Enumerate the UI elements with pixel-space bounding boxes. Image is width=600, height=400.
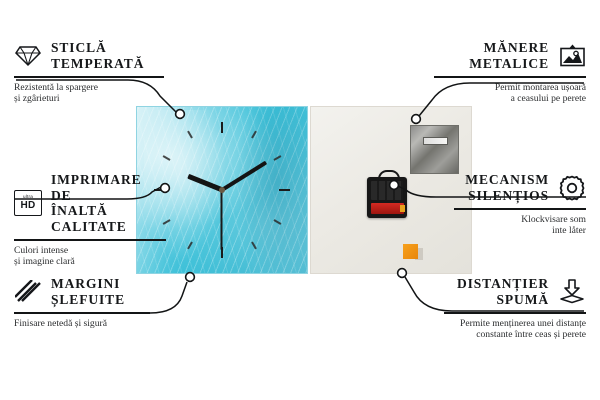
callout-description: Permite menținerea unei distanțe constan… bbox=[444, 318, 586, 341]
ultra-hd-badge-icon: ultra HD bbox=[14, 190, 42, 216]
mechanism-body bbox=[371, 181, 403, 200]
callout-header: DISTANȚIER SPUMĂ bbox=[444, 276, 586, 307]
callout-header: MECANISM SILENȚIOS bbox=[454, 172, 586, 203]
callout-foam-spacer: DISTANȚIER SPUMĂ Permite menținerea unei… bbox=[444, 276, 586, 341]
callout-title: DISTANȚIER SPUMĂ bbox=[457, 276, 549, 307]
callout-title: STICLĂ TEMPERATĂ bbox=[51, 40, 144, 71]
tick-8 bbox=[163, 189, 223, 225]
metal-hanger bbox=[410, 125, 459, 174]
callout-description: Culori intense și imagine clară bbox=[14, 245, 166, 268]
picture-frame-icon bbox=[558, 43, 586, 69]
clock-hub bbox=[219, 187, 225, 193]
hd-badge: ultra HD bbox=[14, 190, 42, 216]
foam-spacer-icon bbox=[558, 279, 586, 305]
callout-rule bbox=[14, 312, 150, 314]
callout-title: IMPRIMARE DE ÎNALTĂ CALITATE bbox=[51, 172, 166, 234]
callout-description: Klockvisare som inte låter bbox=[454, 214, 586, 237]
tick-3 bbox=[222, 189, 290, 191]
hd-badge-main: HD bbox=[20, 201, 35, 211]
polished-edges-icon bbox=[14, 279, 42, 305]
hanger-slot bbox=[423, 137, 448, 145]
callout-rule bbox=[434, 76, 586, 78]
callout-header: MĂNERE METALICE bbox=[434, 40, 586, 71]
clock-mechanism bbox=[367, 177, 407, 218]
product-image bbox=[136, 106, 472, 274]
callout-description: Rezistentă la spargere și zgârieturi bbox=[14, 82, 164, 105]
callout-tempered-glass: STICLĂ TEMPERATĂ Rezistentă la spargere … bbox=[14, 40, 164, 105]
callout-silent-mechanism: MECANISM SILENȚIOS Klockvisare som inte … bbox=[454, 172, 586, 237]
callout-rule bbox=[14, 76, 164, 78]
foam-spacer bbox=[403, 244, 418, 259]
callout-description: Permit montarea ușoară a ceasului pe per… bbox=[434, 82, 586, 105]
callout-metal-handles: MĂNERE METALICE Permit montarea ușoară a… bbox=[434, 40, 586, 105]
callout-header: MARGINI ȘLEFUITE bbox=[14, 276, 150, 307]
callout-high-quality-print: ultra HD IMPRIMARE DE ÎNALTĂ CALITATE Cu… bbox=[14, 172, 166, 268]
callout-description: Finisare netedă și sigură bbox=[14, 318, 150, 330]
battery-terminal bbox=[400, 205, 405, 212]
callout-rule bbox=[444, 312, 586, 314]
callout-title: MĂNERE METALICE bbox=[469, 40, 549, 71]
callout-rule bbox=[14, 239, 166, 241]
callout-title: MECANISM SILENȚIOS bbox=[465, 172, 549, 203]
battery bbox=[371, 203, 404, 214]
callout-header: ultra HD IMPRIMARE DE ÎNALTĂ CALITATE bbox=[14, 172, 166, 234]
diamond-icon bbox=[14, 43, 42, 69]
gear-icon bbox=[558, 175, 586, 201]
tick-12 bbox=[221, 122, 223, 190]
infographic-canvas: STICLĂ TEMPERATĂ Rezistentă la spargere … bbox=[0, 0, 600, 400]
callout-title: MARGINI ȘLEFUITE bbox=[51, 276, 125, 307]
clock-back-panel bbox=[310, 106, 472, 274]
callout-polished-edges: MARGINI ȘLEFUITE Finisare netedă și sigu… bbox=[14, 276, 150, 329]
callout-header: STICLĂ TEMPERATĂ bbox=[14, 40, 164, 71]
callout-rule bbox=[454, 208, 586, 210]
